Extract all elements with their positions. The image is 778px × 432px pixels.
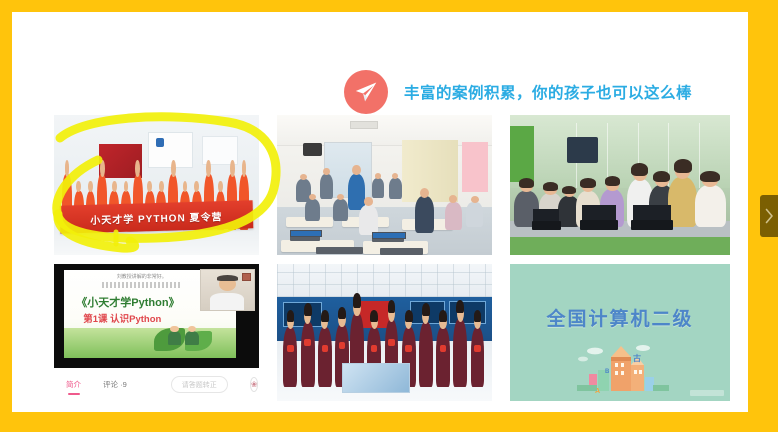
course-danmaku-strip xyxy=(102,282,181,288)
photo-pennant-banner xyxy=(342,363,411,393)
city-illustration: 古 A B xyxy=(565,337,675,395)
course-tab-comments[interactable]: 评论 ·9 xyxy=(103,379,127,390)
photo-banner: 小天才学 PYTHON 夏令营 xyxy=(60,201,253,234)
course-instructor-webcam xyxy=(200,269,255,311)
next-slide-button[interactable] xyxy=(760,195,778,237)
course-video-player[interactable]: 刘教授讲解的非常好。 《小天才学Python》 第1课 认识Python xyxy=(54,264,259,368)
svg-text:古: 古 xyxy=(633,353,641,363)
webcam-instructor-body xyxy=(210,293,244,310)
photo-banner-text: 小天才学 PYTHON 夏令营 xyxy=(90,208,223,227)
photo-classroom-bright[interactable] xyxy=(277,115,492,255)
slide-content-frame: 丰富的案例积累，你的孩子也可以这么棒 xyxy=(12,12,748,412)
photo-summer-camp[interactable]: 小天才学 PYTHON 夏令营 xyxy=(54,115,259,255)
svg-text:B: B xyxy=(605,369,610,375)
course-tab-intro[interactable]: 简介 xyxy=(66,379,81,390)
photo-lab-green[interactable] xyxy=(510,115,730,255)
paper-plane-send-icon xyxy=(344,70,388,114)
photo-curtain xyxy=(402,140,458,202)
photo-pink-wall-banner xyxy=(462,142,488,192)
photo-wall-tv xyxy=(303,143,322,156)
photo-science-hall[interactable] xyxy=(277,264,492,401)
paper-plane-glyph xyxy=(353,79,379,105)
photo-desk-edge xyxy=(510,237,730,255)
section-header: 丰富的案例积累，你的孩子也可以这么棒 xyxy=(344,70,692,114)
card-watermark xyxy=(690,390,724,396)
photo-ceiling-vent xyxy=(350,121,378,129)
gift-icon[interactable]: ❀ xyxy=(250,377,259,392)
photo-wall-monitor xyxy=(567,137,598,162)
card-title: 全国计算机二级 xyxy=(546,304,693,331)
image-gallery-grid: 小天才学 PYTHON 夏令营 xyxy=(54,115,770,405)
course-illustration-child-2 xyxy=(185,331,199,345)
chevron-right-icon xyxy=(764,208,774,224)
page-title: 丰富的案例积累，你的孩子也可以这么棒 xyxy=(404,81,692,103)
photo-ceiling xyxy=(277,115,492,146)
course-lesson-text: 第1课 认识Python xyxy=(83,311,161,325)
course-teacher-note: 刘教授讲解的非常好。 xyxy=(88,273,195,280)
photo-green-wall xyxy=(510,126,534,182)
photo-ceiling-grid xyxy=(277,264,492,297)
course-ask-button[interactable]: 请答题转正 xyxy=(171,376,228,393)
course-illustration-child xyxy=(168,331,182,345)
card-ncre-level2[interactable]: 全国计算机二级 古 A B xyxy=(510,264,730,401)
webcam-instructor-head xyxy=(219,277,236,290)
photo-glass-wall xyxy=(510,115,730,188)
webcam-wall-picture xyxy=(242,273,251,282)
screenshot-online-course[interactable]: 刘教授讲解的非常好。 《小天才学Python》 第1课 认识Python xyxy=(54,264,259,401)
course-title-text: 《小天才学Python》 xyxy=(76,294,179,310)
course-tab-bar: 简介 评论 ·9 请答题转正 ❀ xyxy=(54,368,259,401)
